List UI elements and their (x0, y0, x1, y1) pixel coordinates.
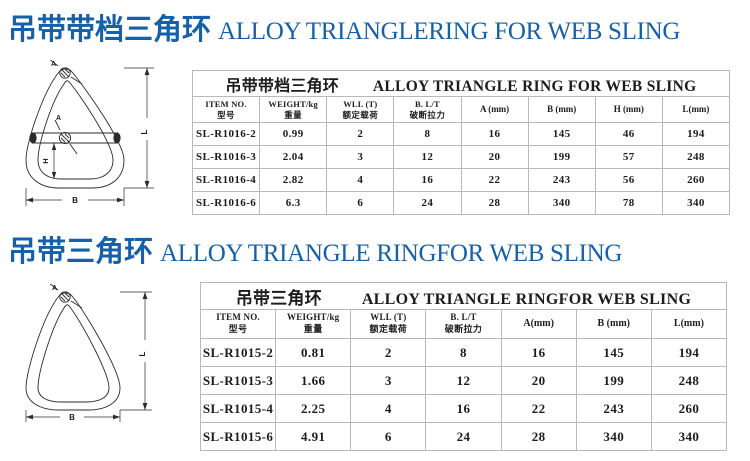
cell-weight: 1.66 (276, 367, 351, 395)
cell-breaking-load: 16 (426, 395, 501, 423)
cell-breaking-load: 8 (394, 123, 461, 146)
table-title-chinese: 吊带三角环 (236, 289, 322, 308)
cell-a: 28 (461, 192, 528, 215)
page-title-alloy-triangle-ring-with-bar: 吊带带档三角环ALLOY TRIANGLERING FOR WEB SLING (8, 6, 680, 48)
cell-weight: 4.91 (276, 423, 351, 451)
column-header-item-no: ITEM NO. 型号 (193, 97, 260, 123)
cell-wll: 4 (327, 169, 394, 192)
page-title-english: ALLOY TRIANGLERING FOR WEB SLING (218, 18, 680, 45)
column-header-h: H (mm) (595, 97, 662, 123)
column-header-weight: WEIGHT/kg 重量 (260, 97, 327, 123)
table-title-chinese: 吊带带档三角环 (226, 78, 339, 95)
cell-item-no: SL-R1015-2 (201, 339, 276, 367)
cell-a: 16 (461, 123, 528, 146)
column-header-line2: 破断拉力 (394, 110, 460, 121)
cell-l: 248 (662, 146, 729, 169)
column-header-l: L(mm) (651, 310, 726, 339)
cell-a: 22 (461, 169, 528, 192)
cell-h: 56 (595, 169, 662, 192)
cell-b: 340 (576, 423, 651, 451)
column-header-line1: WLL (T) (327, 99, 393, 110)
cell-l: 194 (662, 123, 729, 146)
table-row: SL-R1015-6 4.91 6 24 28 340 340 (201, 423, 727, 451)
page-title-chinese: 吊带三角环 (8, 236, 153, 268)
column-header-line2: 破断拉力 (426, 324, 500, 336)
column-header-breaking-load: B. L/T 破断拉力 (426, 310, 501, 339)
table-row: SL-R1016-2 0.99 2 8 16 145 46 194 (193, 123, 730, 146)
cell-item-no: SL-R1016-4 (193, 169, 260, 192)
cell-l: 194 (651, 339, 726, 367)
cell-a: 20 (461, 146, 528, 169)
column-header-line1: WLL (T) (351, 312, 425, 324)
cell-b: 243 (528, 169, 595, 192)
page-title-alloy-triangle-ring: 吊带三角环ALLOY TRIANGLE RINGFOR WEB SLING (8, 228, 622, 270)
cell-a: 16 (501, 339, 576, 367)
column-header-line1: WEIGHT/kg (260, 99, 326, 110)
cell-h: 46 (595, 123, 662, 146)
cell-item-no: SL-R1016-3 (193, 146, 260, 169)
column-header-line1: B. L/T (426, 312, 500, 324)
table-row: SL-R1016-4 2.82 4 16 22 243 56 260 (193, 169, 730, 192)
table-row: SL-R1015-4 2.25 4 16 22 243 260 (201, 395, 727, 423)
spec-table-triangle-ring-with-bar: 吊带带档三角环ALLOY TRIANGLE RING FOR WEB SLING… (192, 70, 730, 215)
cell-a: 20 (501, 367, 576, 395)
section-mark-A-top: A (51, 61, 56, 68)
column-header-line2: 额定载荷 (351, 324, 425, 336)
dimension-label-B: B (72, 196, 78, 205)
section-mark-A-center: A (56, 115, 61, 122)
cell-b: 145 (528, 123, 595, 146)
cell-b: 199 (576, 367, 651, 395)
column-header-line1: WEIGHT/kg (276, 312, 350, 324)
table-title-row: 吊带三角环ALLOY TRIANGLE RINGFOR WEB SLING (201, 283, 727, 310)
cell-weight: 0.99 (260, 123, 327, 146)
cell-wll: 2 (327, 123, 394, 146)
cell-item-no: SL-R1015-3 (201, 367, 276, 395)
table-header-row: ITEM NO. 型号 WEIGHT/kg 重量 WLL (T) 额定载荷 B.… (201, 310, 727, 339)
cell-b: 243 (576, 395, 651, 423)
table-title-cell: 吊带三角环ALLOY TRIANGLE RINGFOR WEB SLING (201, 283, 727, 310)
column-header-line2: 额定载荷 (327, 110, 393, 121)
dimension-label-L: L (140, 129, 149, 134)
cell-item-no: SL-R1016-2 (193, 123, 260, 146)
dimension-label-B: B (69, 413, 75, 422)
cell-breaking-load: 12 (394, 146, 461, 169)
cell-weight: 2.04 (260, 146, 327, 169)
cell-weight: 2.82 (260, 169, 327, 192)
cell-l: 340 (651, 423, 726, 451)
cell-item-no: SL-R1015-6 (201, 423, 276, 451)
column-header-b: B (mm) (576, 310, 651, 339)
cell-item-no: SL-R1015-4 (201, 395, 276, 423)
table-title-cell: 吊带带档三角环ALLOY TRIANGLE RING FOR WEB SLING (193, 71, 730, 97)
cell-item-no: SL-R1016-6 (193, 192, 260, 215)
column-header-wll: WLL (T) 额定载荷 (351, 310, 426, 339)
table-header-row: ITEM NO. 型号 WEIGHT/kg 重量 WLL (T) 额定载荷 B.… (193, 97, 730, 123)
cell-breaking-load: 16 (394, 169, 461, 192)
column-header-a: A(mm) (501, 310, 576, 339)
column-header-item-no: ITEM NO. 型号 (201, 310, 276, 339)
cell-l: 248 (651, 367, 726, 395)
table-row: SL-R1016-3 2.04 3 12 20 199 57 248 (193, 146, 730, 169)
table-title-english: ALLOY TRIANGLE RINGFOR WEB SLING (362, 291, 691, 308)
cell-breaking-load: 24 (394, 192, 461, 215)
column-header-line1: B. L/T (394, 99, 460, 110)
table-row: SL-R1016-6 6.3 6 24 28 340 78 340 (193, 192, 730, 215)
column-header-line2: 型号 (201, 324, 275, 336)
cell-wll: 4 (351, 395, 426, 423)
cell-l: 340 (662, 192, 729, 215)
cell-breaking-load: 24 (426, 423, 501, 451)
column-header-line2: 重量 (260, 110, 326, 121)
cell-breaking-load: 12 (426, 367, 501, 395)
diagram-triangle-ring-plain: L B A (14, 284, 184, 429)
cell-breaking-load: 8 (426, 339, 501, 367)
table-row: SL-R1015-3 1.66 3 12 20 199 248 (201, 367, 727, 395)
cell-b: 199 (528, 146, 595, 169)
dimension-label-H: H (41, 158, 50, 163)
cell-l: 260 (662, 169, 729, 192)
column-header-line1: ITEM NO. (201, 312, 275, 324)
cell-weight: 6.3 (260, 192, 327, 215)
cell-wll: 6 (351, 423, 426, 451)
dimension-label-L: L (138, 351, 147, 356)
cell-weight: 2.25 (276, 395, 351, 423)
cell-wll: 6 (327, 192, 394, 215)
cell-a: 28 (501, 423, 576, 451)
column-header-a: A (mm) (461, 97, 528, 123)
cell-weight: 0.81 (276, 339, 351, 367)
cell-l: 260 (651, 395, 726, 423)
diagram-triangle-ring-with-bar: L B H A A (14, 60, 184, 215)
column-header-breaking-load: B. L/T 破断拉力 (394, 97, 461, 123)
cell-b: 340 (528, 192, 595, 215)
cell-wll: 3 (327, 146, 394, 169)
column-header-line2: 重量 (276, 324, 350, 336)
table-title-english: ALLOY TRIANGLE RING FOR WEB SLING (373, 78, 697, 95)
column-header-line2: 型号 (193, 110, 259, 121)
page-title-english: ALLOY TRIANGLE RINGFOR WEB SLING (160, 240, 622, 267)
cell-a: 22 (501, 395, 576, 423)
column-header-line1: ITEM NO. (193, 99, 259, 110)
cell-h: 57 (595, 146, 662, 169)
cell-wll: 2 (351, 339, 426, 367)
column-header-l: L(mm) (662, 97, 729, 123)
table-row: SL-R1015-2 0.81 2 8 16 145 194 (201, 339, 727, 367)
section-mark-A-top: A (52, 285, 57, 292)
cell-wll: 3 (351, 367, 426, 395)
column-header-b: B (mm) (528, 97, 595, 123)
table-title-row: 吊带带档三角环ALLOY TRIANGLE RING FOR WEB SLING (193, 71, 730, 97)
cell-b: 145 (576, 339, 651, 367)
page-title-chinese: 吊带带档三角环 (8, 14, 211, 46)
column-header-wll: WLL (T) 额定载荷 (327, 97, 394, 123)
column-header-weight: WEIGHT/kg 重量 (276, 310, 351, 339)
spec-table-triangle-ring-plain: 吊带三角环ALLOY TRIANGLE RINGFOR WEB SLING IT… (200, 282, 727, 451)
cell-h: 78 (595, 192, 662, 215)
